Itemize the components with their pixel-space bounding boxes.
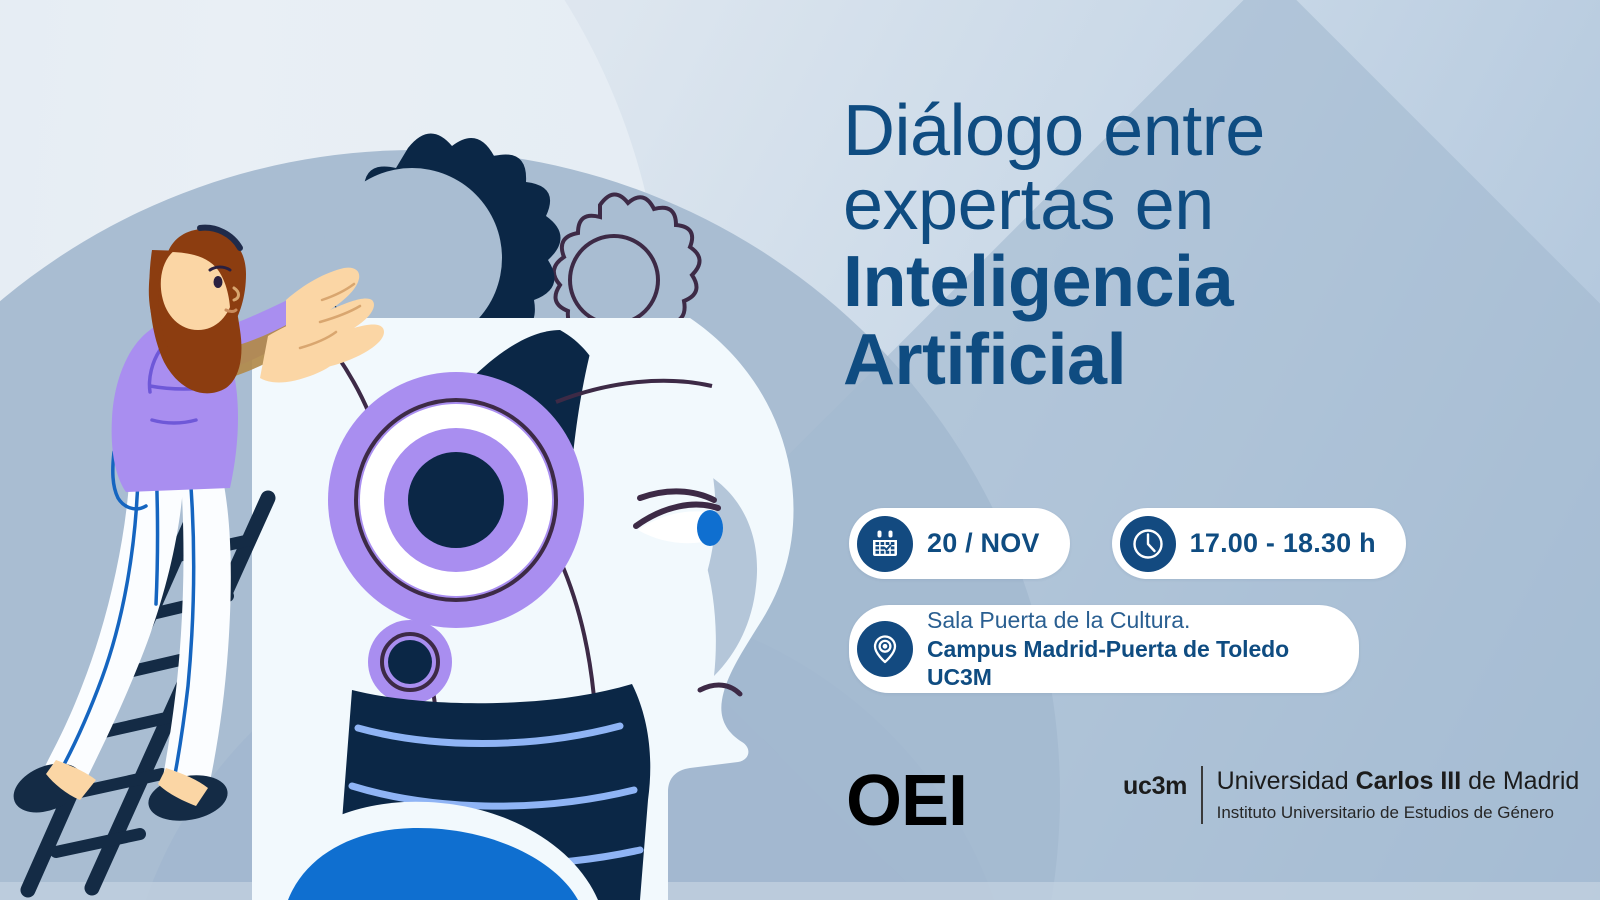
title-line-4: Artificial	[843, 324, 1483, 397]
content-column: Diálogo entre expertas en Inteligencia A…	[843, 0, 1543, 900]
info-pill-row: 20 / NOV 17.00 - 18.30 h	[849, 508, 1406, 579]
title-line-3: Inteligencia	[843, 246, 1483, 319]
map-pin-icon	[857, 621, 913, 677]
time-pill[interactable]: 17.00 - 18.30 h	[1112, 508, 1406, 579]
oei-logo: OEI	[846, 760, 967, 842]
uc3m-name-bold: Carlos III	[1356, 767, 1462, 795]
robot-eye	[697, 510, 723, 546]
location-line-1: Sala Puerta de la Cultura.	[927, 606, 1359, 635]
location-line-2: Campus Madrid-Puerta de Toledo UC3M	[927, 635, 1359, 693]
page-title: Diálogo entre expertas en Inteligencia A…	[843, 95, 1483, 397]
uc3m-text-block: Universidad Carlos III de Madrid Institu…	[1217, 766, 1580, 825]
uc3m-name-suffix: de Madrid	[1461, 767, 1579, 795]
time-label: 17.00 - 18.30 h	[1190, 528, 1376, 559]
clock-icon	[1120, 516, 1176, 572]
uc3m-wordmark: uc3m	[1123, 766, 1201, 801]
title-line-1: Diálogo entre	[843, 95, 1483, 168]
uc3m-divider	[1201, 766, 1203, 824]
calendar-icon	[857, 516, 913, 572]
logo-row: OEI uc3m Universidad Carlos III de Madri…	[843, 752, 1543, 852]
poster-canvas: Diálogo entre expertas en Inteligencia A…	[0, 0, 1600, 900]
concentric-purple-rings	[328, 372, 584, 628]
small-purple-ring	[368, 620, 452, 704]
title-line-2: expertas en	[843, 169, 1483, 242]
date-label: 20 / NOV	[927, 528, 1040, 559]
location-text: Sala Puerta de la Cultura. Campus Madrid…	[927, 606, 1359, 692]
date-pill[interactable]: 20 / NOV	[849, 508, 1070, 579]
uc3m-university-name: Universidad Carlos III de Madrid	[1217, 766, 1580, 797]
location-pill[interactable]: Sala Puerta de la Cultura. Campus Madrid…	[849, 605, 1359, 693]
uc3m-logo: uc3m Universidad Carlos III de Madrid In…	[1123, 766, 1579, 825]
uc3m-name-prefix: Universidad	[1217, 767, 1356, 795]
uc3m-institute-name: Instituto Universitario de Estudios de G…	[1217, 801, 1580, 825]
hero-illustration	[0, 0, 900, 900]
